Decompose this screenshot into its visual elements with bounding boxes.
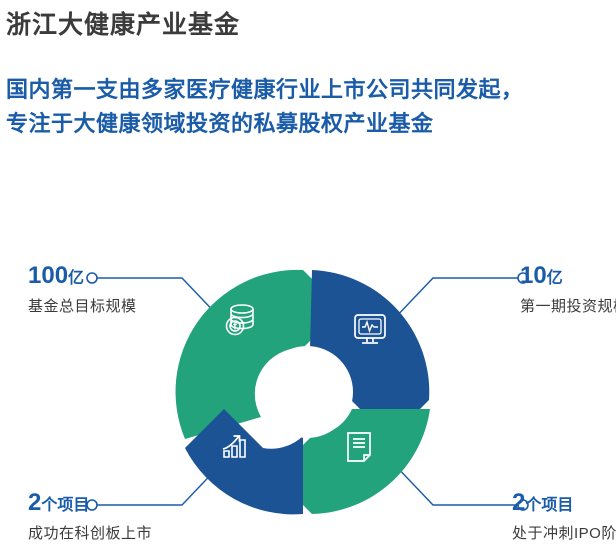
callout-top-right-desc: 第一期投资规模 — [520, 296, 616, 318]
callout-top-left-desc: 基金总目标规模 — [28, 296, 137, 318]
infographic-page: 浙江大健康产业基金 国内第一支由多家医疗健康行业上市公司共同发起， 专注于大健康… — [0, 0, 616, 560]
callout-bottom-left-value: 2个项目 — [28, 490, 152, 519]
callout-bottom-right-desc: 处于冲刺IPO阶段 — [512, 523, 616, 545]
page-subtitle: 国内第一支由多家医疗健康行业上市公司共同发起， 专注于大健康领域投资的私募股权产… — [6, 73, 524, 141]
callout-top-left-value: 100亿 — [28, 263, 137, 292]
subtitle-line-2: 专注于大健康领域投资的私募股权产业基金 — [6, 107, 524, 141]
ecg-monitor-icon — [355, 315, 385, 343]
callout-bottom-left-desc: 成功在科创板上市 — [28, 523, 152, 545]
donut-center-hole — [261, 346, 353, 438]
connector-bottom-right — [393, 463, 520, 505]
callout-bottom-left: 2个项目 成功在科创板上市 — [28, 490, 152, 545]
subtitle-line-1: 国内第一支由多家医疗健康行业上市公司共同发起， — [6, 73, 524, 107]
callout-bottom-right-value: 2个项目 — [512, 490, 616, 519]
connector-top-right — [393, 278, 520, 320]
cycle-diagram: 100亿 基金总目标规模 10亿 第一期投资规模 2个项目 成功在科创板上市 2… — [0, 235, 616, 560]
callout-top-right: 10亿 第一期投资规模 — [520, 263, 616, 318]
callout-top-left: 100亿 基金总目标规模 — [28, 263, 137, 318]
page-title: 浙江大健康产业基金 — [6, 8, 240, 42]
callout-top-right-value: 10亿 — [520, 263, 616, 292]
callout-bottom-right: 2个项目 处于冲刺IPO阶段 — [512, 490, 616, 545]
